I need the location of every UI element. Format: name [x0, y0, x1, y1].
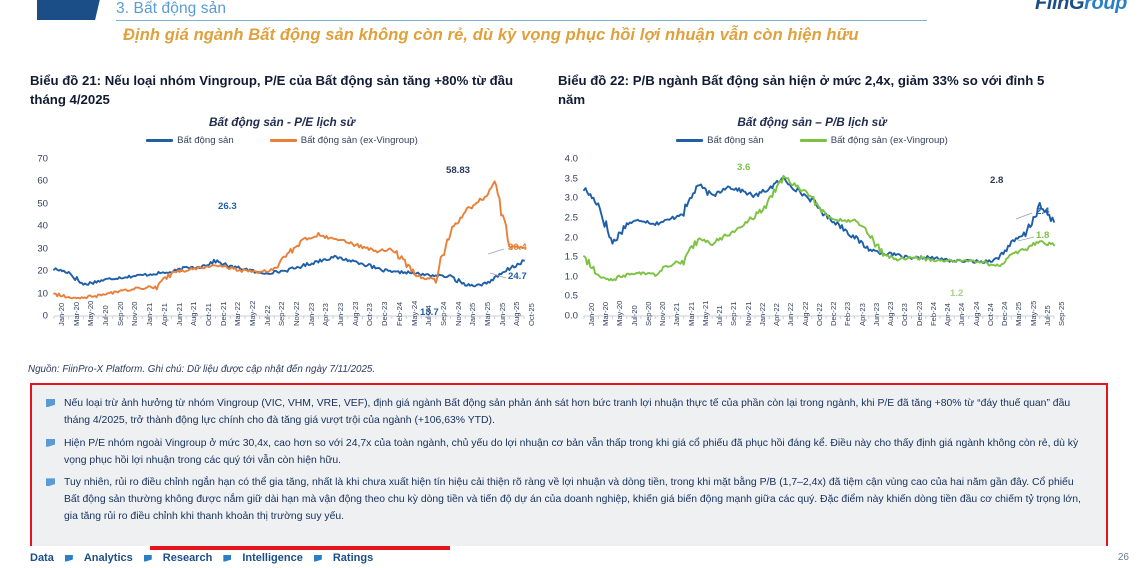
- x-axis-tick-label: May-24: [410, 301, 419, 326]
- footer-nav-item-intelligence[interactable]: Intelligence: [242, 552, 303, 564]
- x-axis-tick-label: May-22: [248, 301, 257, 326]
- x-axis-tick-label: Jan-25: [468, 303, 477, 326]
- x-axis-tick-label: May-20: [86, 301, 95, 326]
- chart21-panel: Bất động sản - P/E lịch sử Bất động sảnB…: [22, 115, 542, 360]
- logo-text-secondary: roup: [1084, 0, 1127, 14]
- chart22-panel: Bất động sản – P/B lịch sử Bất động sảnB…: [552, 115, 1072, 360]
- x-axis-tick-label: Aug-22: [801, 302, 810, 327]
- x-axis-tick-label: Dec-24: [1000, 302, 1009, 326]
- legend-item-1[interactable]: Bất động sản: [676, 135, 764, 146]
- y-axis-tick-label: 4.0: [552, 154, 578, 165]
- y-axis-tick-label: 0.5: [552, 291, 578, 302]
- x-axis-tick-label: Jan-22: [758, 303, 767, 326]
- data-label-58-83: 58.83: [446, 165, 470, 176]
- analysis-bullet: Hiện P/E nhóm ngoài Vingroup ở mức 30,4x…: [46, 436, 1084, 470]
- x-axis-tick-label: Jan-20: [587, 303, 596, 326]
- x-axis-tick-label: May-25: [1029, 301, 1038, 326]
- x-axis-tick-label: Nov-24: [454, 302, 463, 326]
- x-axis-tick-label: Feb-23: [843, 302, 852, 326]
- analysis-bullet-text: Nếu loại trừ ảnh hưởng từ nhóm Vingroup …: [64, 396, 1084, 430]
- x-axis-tick-label: Apr-23: [321, 303, 330, 326]
- x-axis-tick-label: Mar-22: [233, 302, 242, 326]
- y-axis-tick-label: 1.5: [552, 252, 578, 263]
- header-flag-icon: [37, 0, 103, 20]
- x-axis-tick-label: Jun-22: [786, 303, 795, 326]
- chart21-plot: 26.358.8330.424.713.7: [22, 149, 542, 324]
- x-axis-tick-label: Jan-21: [145, 303, 154, 326]
- x-axis-tick-label: Oct-23: [365, 303, 374, 326]
- x-axis-tick-label: Sep-25: [1057, 302, 1066, 327]
- x-axis-tick-label: Aug-23: [351, 302, 360, 327]
- x-axis-tick-label: Jan-23: [307, 303, 316, 326]
- x-axis-tick-label: Aug-24: [972, 302, 981, 327]
- x-axis-tick-label: Mar-20: [72, 302, 81, 326]
- y-axis-tick-label: 50: [22, 198, 48, 209]
- source-note: Nguồn: FiinPro-X Platform. Ghi chú: Dữ l…: [28, 364, 375, 375]
- x-axis-tick-label: Aug-23: [886, 302, 895, 327]
- x-axis-tick-label: Jun-23: [872, 303, 881, 326]
- fiingroup-logo: FiinGroup: [1035, 0, 1127, 15]
- analysis-bullet-list: Nếu loại trừ ảnh hưởng từ nhóm Vingroup …: [32, 385, 1106, 526]
- y-axis-tick-label: 10: [22, 288, 48, 299]
- page-number: 26: [1118, 552, 1129, 563]
- x-axis-tick-label: Nov-22: [292, 302, 301, 326]
- x-axis-tick-label: Aug-25: [512, 302, 521, 327]
- legend-swatch-icon: [270, 139, 297, 142]
- x-axis-tick-label: Sep-20: [116, 302, 125, 327]
- data-label-24-7: 24.7: [508, 271, 527, 282]
- x-axis-tick-label: Oct-21: [204, 303, 213, 326]
- x-axis-tick-label: Apr-22: [772, 303, 781, 326]
- x-axis-tick-label: May-20: [615, 301, 624, 326]
- y-axis-tick-label: 0: [22, 311, 48, 322]
- x-axis-tick-label: Oct-25: [527, 303, 536, 326]
- legend-item-1[interactable]: Bất động sản: [146, 135, 234, 146]
- y-axis-tick-label: 70: [22, 154, 48, 165]
- footer-nav-item-data[interactable]: Data: [30, 552, 54, 564]
- chart22-plot: 3.62.82.41.81.2: [552, 149, 1072, 324]
- bullet-flag-icon: [46, 399, 55, 407]
- x-axis-tick-label: Jul-21: [715, 305, 724, 326]
- x-axis-tick-label: Oct-22: [815, 303, 824, 326]
- x-axis-tick-label: Sep-20: [644, 302, 653, 327]
- header-divider: [116, 20, 927, 21]
- legend-label: Bất động sản: [707, 135, 764, 146]
- x-axis-tick-label: Aug-21: [189, 302, 198, 327]
- legend-swatch-icon: [146, 139, 173, 142]
- x-axis-tick-label: Apr-21: [160, 303, 169, 326]
- legend-label: Bất động sản (ex-Vingroup): [831, 135, 948, 146]
- x-axis-tick-label: Jul-20: [630, 305, 639, 326]
- x-axis-tick-label: Jun-23: [336, 303, 345, 326]
- x-axis-tick-label: Apr-24: [943, 303, 952, 326]
- x-axis-tick-label: Mar-25: [1014, 302, 1023, 326]
- footer-separator-icon: [65, 555, 73, 562]
- x-axis-tick-label: Oct-24: [986, 303, 995, 326]
- chart22-legend: Bất động sảnBất động sản (ex-Vingroup): [552, 135, 1072, 146]
- legend-label: Bất động sản: [177, 135, 234, 146]
- legend-item-2[interactable]: Bất động sản (ex-Vingroup): [270, 135, 418, 146]
- x-axis-tick-label: Jul-24: [424, 305, 433, 326]
- y-axis-tick-label: 30: [22, 243, 48, 254]
- data-label-30-4: 30.4: [508, 242, 527, 253]
- y-axis-tick-label: 2.5: [552, 212, 578, 223]
- chart21-title: Bất động sản - P/E lịch sử: [22, 115, 542, 129]
- x-axis-tick-label: Jun-24: [957, 303, 966, 326]
- analysis-bullet-text: Hiện P/E nhóm ngoài Vingroup ở mức 30,4x…: [64, 436, 1084, 470]
- analysis-callout-box: Nếu loại trừ ảnh hưởng từ nhóm Vingroup …: [30, 383, 1108, 549]
- y-axis-tick-label: 20: [22, 266, 48, 277]
- footer-nav: DataAnalyticsResearchIntelligenceRatings: [30, 552, 373, 564]
- y-axis-tick-label: 0.0: [552, 311, 578, 322]
- footer-nav-item-analytics[interactable]: Analytics: [84, 552, 133, 564]
- bullet-flag-icon: [46, 478, 55, 486]
- analysis-bullet: Tuy nhiên, rủi ro điều chỉnh ngắn hạn có…: [46, 475, 1084, 526]
- legend-label: Bất động sản (ex-Vingroup): [301, 135, 418, 146]
- x-axis-tick-label: Dec-23: [380, 302, 389, 326]
- series-line-2: [54, 181, 524, 298]
- footer-separator-icon: [314, 555, 322, 562]
- chart22-heading: Biểu đồ 22: P/B ngành Bất động sản hiện …: [558, 71, 1063, 109]
- x-axis-tick-label: Nov-20: [130, 302, 139, 326]
- data-label-1-8: 1.8: [1036, 230, 1049, 241]
- y-axis-tick-label: 3.5: [552, 173, 578, 184]
- x-axis-tick-label: Jul-25: [1043, 305, 1052, 326]
- y-axis-tick-label: 40: [22, 221, 48, 232]
- x-axis-tick-label: Sep-24: [439, 302, 448, 327]
- x-axis-tick-label: Dec-21: [219, 302, 228, 326]
- x-axis-tick-label: Mar-21: [687, 302, 696, 326]
- y-axis-tick-label: 60: [22, 176, 48, 187]
- logo-text-primary: FiinG: [1035, 0, 1084, 14]
- x-axis-tick-label: Mar-20: [601, 302, 610, 326]
- x-axis-tick-label: Jan-20: [57, 303, 66, 326]
- series-line-1: [584, 177, 1054, 263]
- section-heading: 3. Bất động sản: [116, 0, 226, 18]
- x-axis-tick-label: Apr-23: [858, 303, 867, 326]
- footer-separator-icon: [223, 555, 231, 562]
- legend-swatch-icon: [676, 139, 703, 142]
- footer-nav-item-ratings[interactable]: Ratings: [333, 552, 373, 564]
- x-axis-tick-label: Nov-21: [744, 302, 753, 326]
- chart22-title: Bất động sản – P/B lịch sử: [552, 115, 1072, 129]
- legend-swatch-icon: [800, 139, 827, 142]
- x-axis-tick-label: Oct-23: [900, 303, 909, 326]
- header-subtitle: Định giá ngành Bất động sản không còn rẻ…: [123, 26, 859, 45]
- data-label-2-4: 2.4: [1036, 206, 1049, 217]
- x-axis-tick-label: Sep-22: [277, 302, 286, 327]
- chart21-heading: Biểu đồ 21: Nếu loại nhóm Vingroup, P/E …: [30, 71, 530, 109]
- data-label-26-3: 26.3: [218, 201, 237, 212]
- x-axis-tick-label: Feb-24: [395, 302, 404, 326]
- series-line-1: [54, 256, 524, 287]
- x-axis-tick-label: Jun-21: [175, 303, 184, 326]
- data-label-2-8: 2.8: [990, 175, 1003, 186]
- x-axis-tick-label: May-21: [701, 301, 710, 326]
- x-axis-tick-label: Nov-20: [658, 302, 667, 326]
- y-axis-tick-label: 1.0: [552, 271, 578, 282]
- chart21-legend: Bất động sảnBất động sản (ex-Vingroup): [22, 135, 542, 146]
- x-axis-tick-label: Dec-23: [915, 302, 924, 326]
- analysis-bullet: Nếu loại trừ ảnh hưởng từ nhóm Vingroup …: [46, 396, 1084, 430]
- series-line-2: [584, 176, 1054, 281]
- slide-page: 3. Bất động sản Định giá ngành Bất động …: [0, 0, 1141, 568]
- x-axis-tick-label: Sep-21: [729, 302, 738, 327]
- x-axis-tick-label: Jun-25: [498, 303, 507, 326]
- x-axis-tick-label: Mar-25: [483, 302, 492, 326]
- analysis-bullet-text: Tuy nhiên, rủi ro điều chỉnh ngắn hạn có…: [64, 475, 1084, 526]
- footer-nav-item-research[interactable]: Research: [163, 552, 213, 564]
- data-label-1-2: 1.2: [950, 288, 963, 299]
- x-axis-tick-label: Feb-24: [929, 302, 938, 326]
- y-axis-tick-label: 2.0: [552, 232, 578, 243]
- footer-accent-bar: [150, 546, 450, 550]
- data-label-3-6: 3.6: [737, 162, 750, 173]
- footer-separator-icon: [144, 555, 152, 562]
- x-axis-tick-label: Jan-21: [672, 303, 681, 326]
- bullet-flag-icon: [46, 439, 55, 447]
- page-header: 3. Bất động sản Định giá ngành Bất động …: [0, 0, 1141, 58]
- x-axis-tick-label: Jul-22: [263, 305, 272, 326]
- x-axis-tick-label: Jul-20: [101, 305, 110, 326]
- y-axis-tick-label: 3.0: [552, 193, 578, 204]
- x-axis-tick-label: Dec-22: [829, 302, 838, 326]
- page-footer: DataAnalyticsResearchIntelligenceRatings…: [0, 546, 1141, 568]
- chart22-x-axis: Jan-20Mar-20May-20Jul-20Sep-20Nov-20Jan-…: [552, 324, 1072, 372]
- legend-item-2[interactable]: Bất động sản (ex-Vingroup): [800, 135, 948, 146]
